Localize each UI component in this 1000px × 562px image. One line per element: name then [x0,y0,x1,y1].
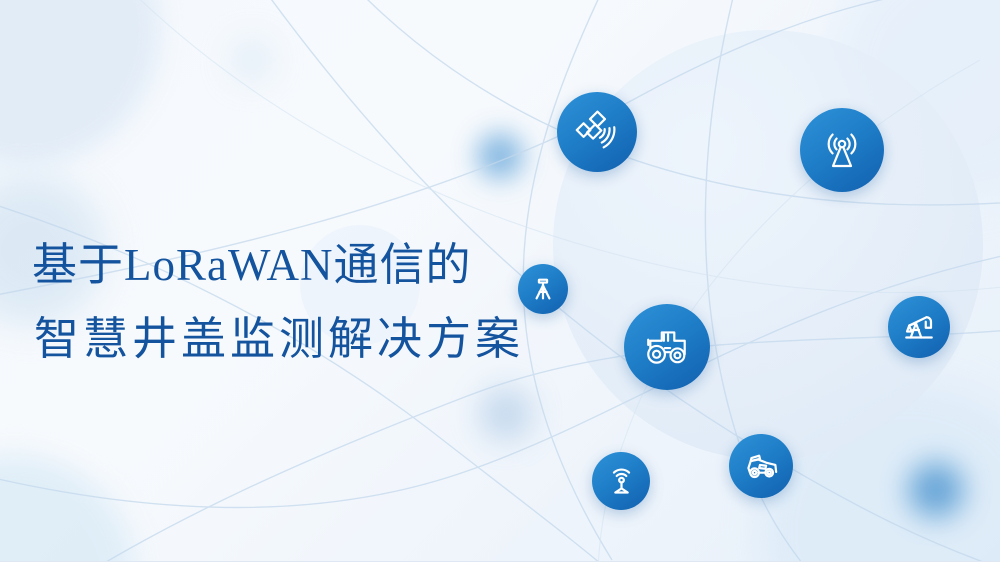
background-blob-bottom-left [0,455,135,562]
background-sphere [553,30,983,460]
title-line-1: 基于LoRaWAN通信的 [32,228,524,302]
oil-pumpjack-icon [901,309,937,345]
background-dot-center [477,133,523,179]
node-oil-pumpjack[interactable] [888,296,950,358]
node-mining-truck[interactable] [729,434,793,498]
node-wifi-sensor[interactable] [592,452,650,510]
title-line-2: 智慧井盖监测解决方案 [32,302,524,376]
satellite-dish-icon [574,109,620,155]
background-blob-bottom-right [760,381,1000,562]
node-radio-tower[interactable] [800,108,884,192]
background-blob-top-left [0,0,160,165]
slide-title: 基于LoRaWAN通信的 智慧井盖监测解决方案 [32,228,524,376]
background-dot-bottom-right [908,462,964,518]
tractor-icon [642,322,692,372]
survey-tripod-icon [529,275,557,303]
background-dot-lower-center [480,388,532,440]
mining-truck-icon [743,448,780,485]
node-satellite[interactable] [557,92,637,172]
node-tractor[interactable] [624,304,710,390]
wifi-sensor-icon [605,465,638,498]
presentation-slide: 基于LoRaWAN通信的 智慧井盖监测解决方案 [0,0,1000,562]
node-survey-tripod[interactable] [518,264,568,314]
radio-tower-icon [818,126,866,174]
background-dot-top [232,40,272,80]
